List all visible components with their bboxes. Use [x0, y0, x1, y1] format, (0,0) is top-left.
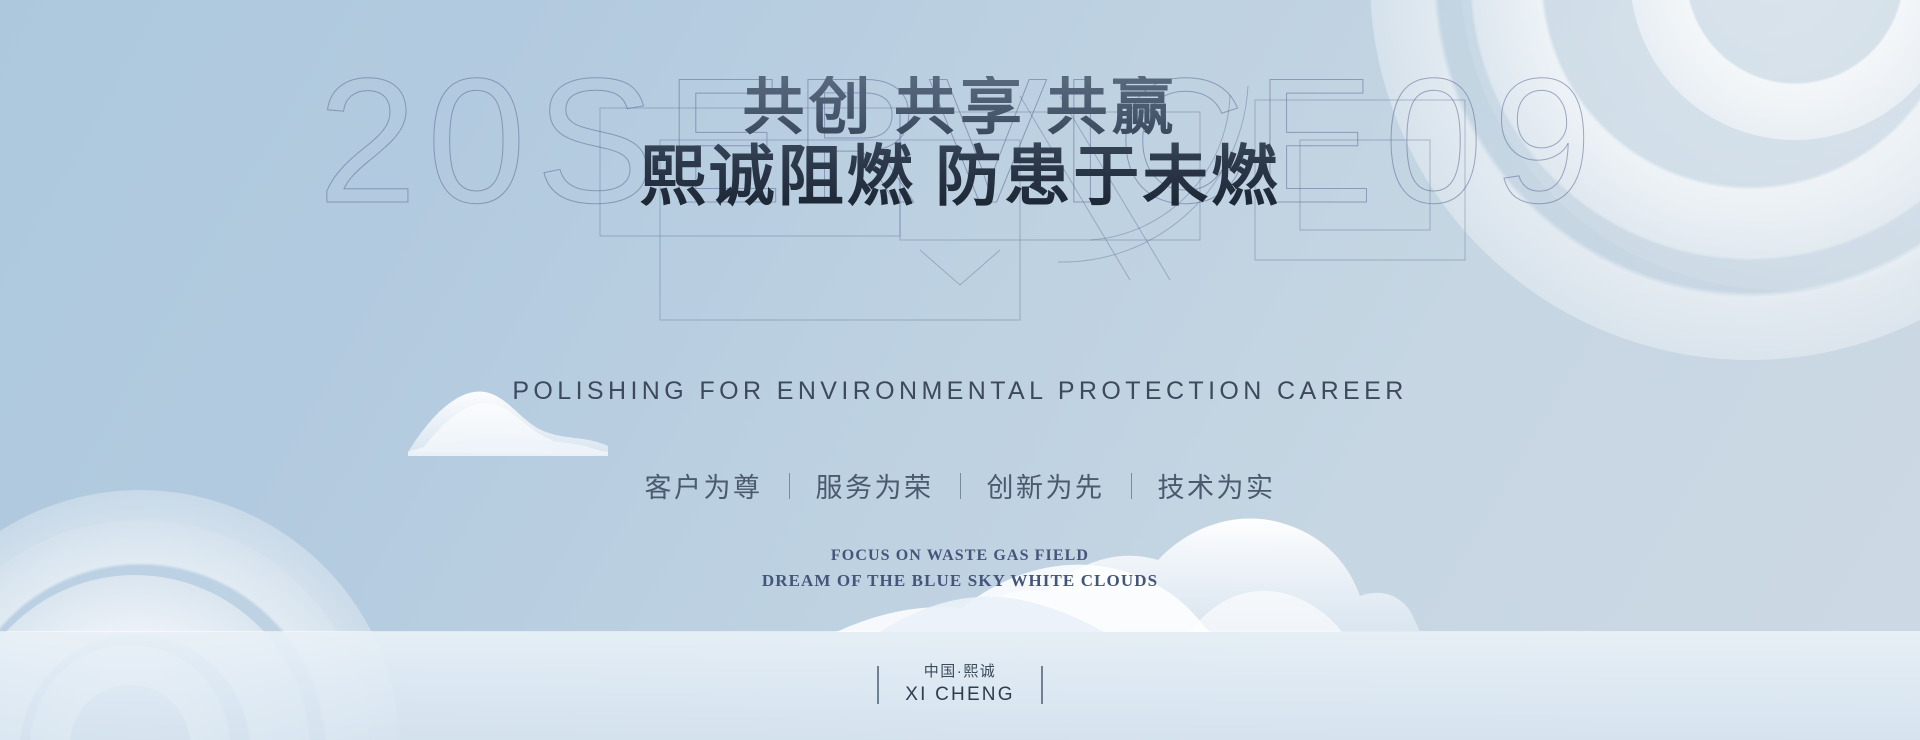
footer-text-group: 中国·熙诚 XI CHENG [905, 662, 1014, 708]
footer-bar-left [877, 666, 879, 704]
values-row: 客户为尊 服务为荣 创新为先 技术为实 [0, 466, 1920, 505]
serif-tagline-line-2: DREAM OF THE BLUE SKY WHITE CLOUDS [0, 568, 1920, 594]
footer-brand-cn: 中国·熙诚 [905, 662, 1014, 682]
banner-canvas: 20SERVICE09 共创 共享 [0, 0, 1920, 740]
headline-line-1: 共创 共享 共赢 [0, 76, 1920, 141]
value-separator-2 [960, 473, 961, 499]
banner-content: 共创 共享 共赢 熙诚阻燃 防患于未燃 POLISHING FOR ENVIRO… [0, 0, 1920, 740]
footer-logo-lockup: 中国·熙诚 XI CHENG [0, 662, 1920, 708]
value-separator-1 [789, 473, 790, 499]
value-item-4: 技术为实 [1132, 466, 1302, 505]
value-item-2: 服务为荣 [790, 466, 960, 505]
value-separator-3 [1131, 473, 1132, 499]
headline-block: 共创 共享 共赢 熙诚阻燃 防患于未燃 [0, 76, 1920, 212]
footer-brand-en: XI CHENG [905, 682, 1014, 708]
footer-bar-right [1041, 666, 1043, 704]
headline-line-2: 熙诚阻燃 防患于未燃 [0, 143, 1920, 212]
value-item-1: 客户为尊 [619, 466, 789, 505]
serif-tagline-block: FOCUS ON WASTE GAS FIELD DREAM OF THE BL… [0, 544, 1920, 594]
english-tagline: POLISHING FOR ENVIRONMENTAL PROTECTION C… [0, 377, 1920, 406]
value-item-3: 创新为先 [961, 466, 1131, 505]
serif-tagline-line-1: FOCUS ON WASTE GAS FIELD [0, 544, 1920, 568]
